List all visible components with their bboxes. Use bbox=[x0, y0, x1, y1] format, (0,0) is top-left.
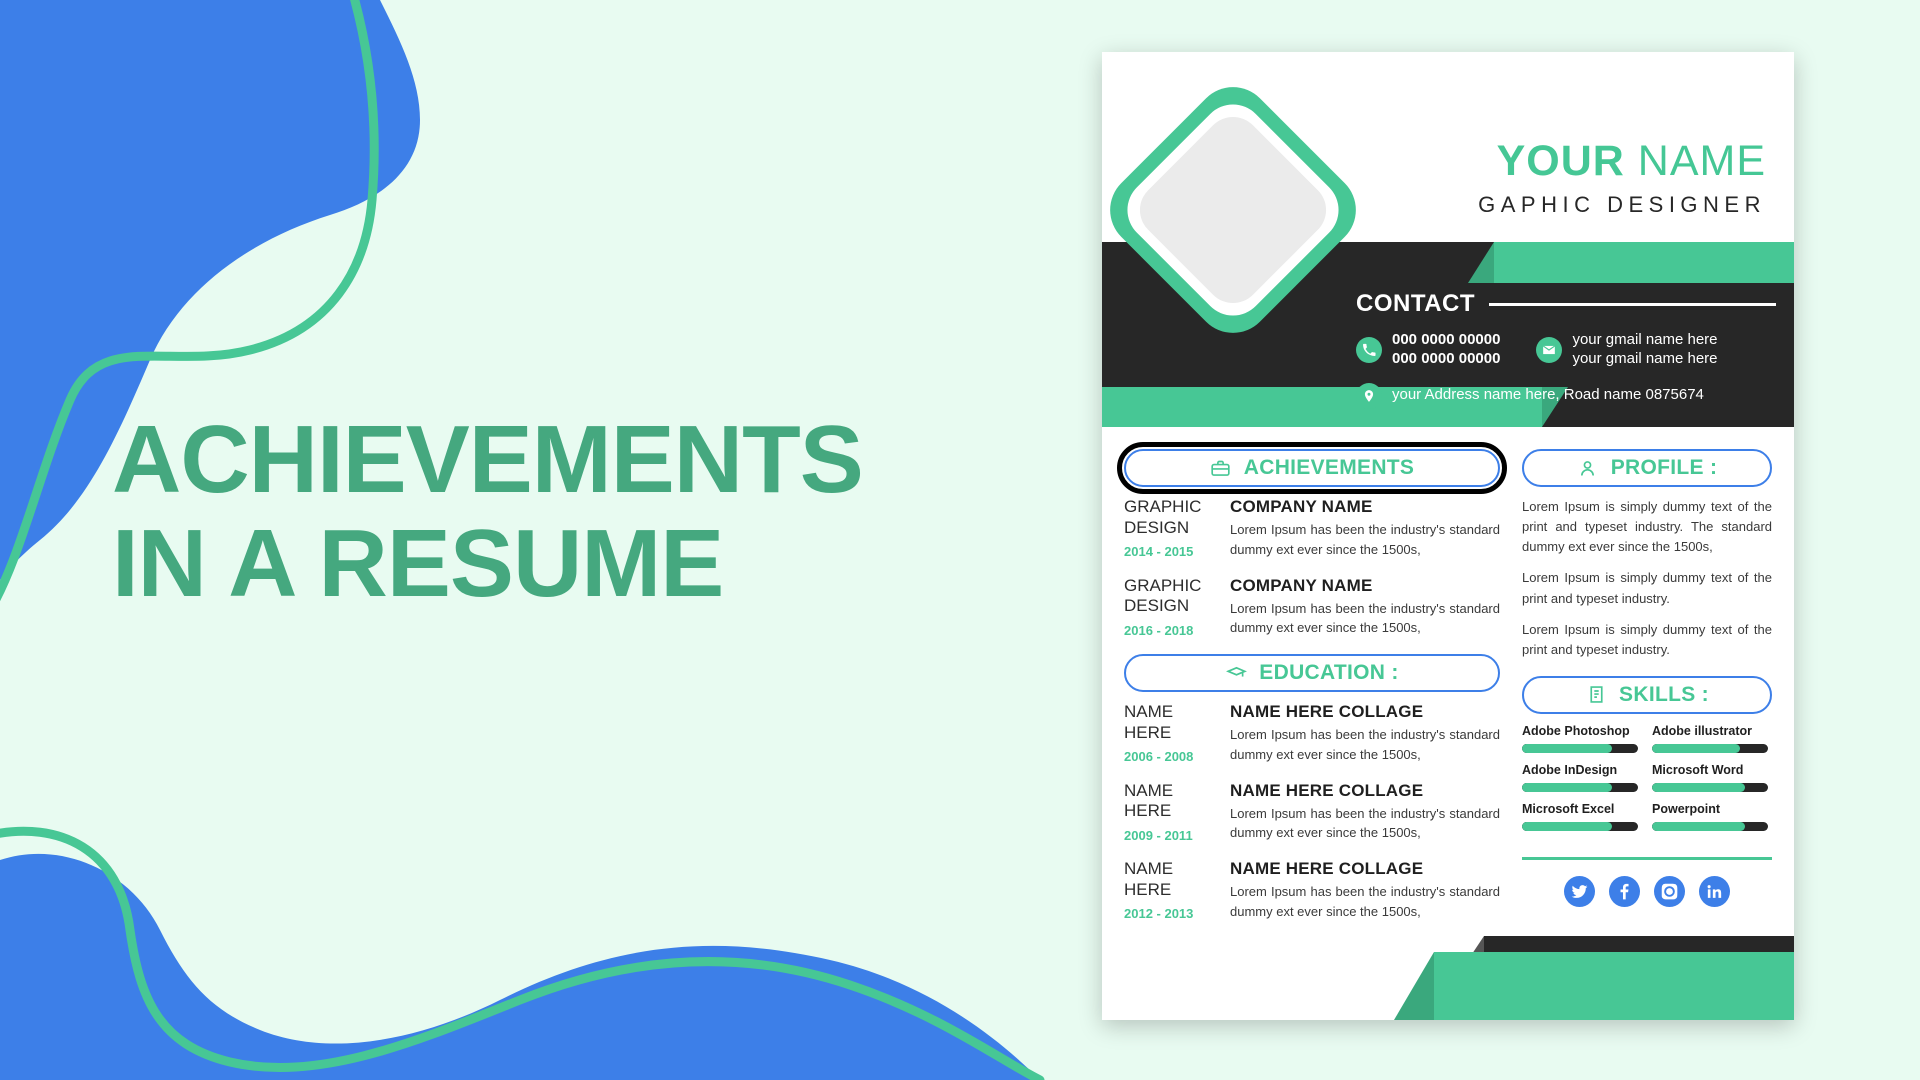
skill-item: Adobe InDesign bbox=[1522, 763, 1638, 792]
education-entries: NAME HERE 2006 - 2008 NAME HERE COLLAGE … bbox=[1124, 702, 1500, 922]
skills-label: SKILLS : bbox=[1619, 683, 1709, 707]
skill-track bbox=[1652, 783, 1768, 792]
skill-item: Powerpoint bbox=[1652, 802, 1768, 831]
skills-header[interactable]: SKILLS : bbox=[1522, 676, 1772, 714]
skill-track bbox=[1522, 744, 1638, 753]
skill-fill bbox=[1652, 822, 1745, 831]
phone-icon bbox=[1356, 337, 1382, 363]
skill-fill bbox=[1522, 783, 1612, 792]
name-last: NAME bbox=[1638, 137, 1766, 185]
achievement-title: COMPANY NAME bbox=[1230, 576, 1500, 596]
twitter-icon[interactable] bbox=[1564, 876, 1595, 907]
blue-blob-bottom bbox=[0, 854, 1040, 1080]
skill-track bbox=[1652, 822, 1768, 831]
skill-name: Adobe illustrator bbox=[1652, 724, 1768, 738]
skill-name: Powerpoint bbox=[1652, 802, 1768, 816]
profile-label: PROFILE : bbox=[1611, 456, 1718, 480]
achievement-keyword-1: GRAPHIC bbox=[1124, 576, 1201, 595]
envelope-icon bbox=[1536, 337, 1562, 363]
education-desc: Lorem Ipsum has been the industry's stan… bbox=[1230, 882, 1500, 922]
name-block: YOUR NAME GAPHIC DESIGNER bbox=[1478, 140, 1766, 218]
achievement-desc: Lorem Ipsum has been the industry's stan… bbox=[1230, 599, 1500, 639]
skill-track bbox=[1522, 783, 1638, 792]
achievement-title: COMPANY NAME bbox=[1230, 497, 1500, 517]
email-line-1: your gmail name here bbox=[1572, 331, 1717, 348]
education-desc: Lorem Ipsum has been the industry's stan… bbox=[1230, 804, 1500, 844]
instagram-icon[interactable] bbox=[1654, 876, 1685, 907]
profile-paragraph: Lorem Ipsum is simply dummy text of the … bbox=[1522, 497, 1772, 557]
sheet-bottom-decoration bbox=[1102, 920, 1794, 1020]
education-title: NAME HERE COLLAGE bbox=[1230, 859, 1500, 879]
name-first: YOUR bbox=[1497, 137, 1625, 185]
achievement-keyword-2: DESIGN bbox=[1124, 596, 1189, 615]
selection-ring bbox=[1117, 442, 1507, 494]
education-entry: NAME HERE 2009 - 2011 NAME HERE COLLAGE … bbox=[1124, 781, 1500, 844]
phone-numbers: 000 0000 00000 000 0000 00000 bbox=[1392, 331, 1500, 369]
resume-right-column: PROFILE : Lorem Ipsum is simply dummy te… bbox=[1522, 449, 1772, 938]
achievement-keyword-1: GRAPHIC bbox=[1124, 497, 1201, 516]
linkedin-icon[interactable] bbox=[1699, 876, 1730, 907]
document-list-icon bbox=[1585, 684, 1607, 706]
contact-row-primary: 000 0000 00000 000 0000 00000 your gmail… bbox=[1356, 331, 1776, 369]
skill-item: Adobe illustrator bbox=[1652, 724, 1768, 753]
full-name: YOUR NAME bbox=[1478, 140, 1766, 183]
skill-name: Microsoft Word bbox=[1652, 763, 1768, 777]
profile-paragraph: Lorem Ipsum is simply dummy text of the … bbox=[1522, 568, 1772, 608]
achievement-entry: GRAPHIC DESIGN 2016 - 2018 COMPANY NAME … bbox=[1124, 576, 1500, 639]
map-pin-icon bbox=[1356, 383, 1382, 409]
education-label: EDUCATION : bbox=[1259, 661, 1398, 685]
education-keyword-1: NAME bbox=[1124, 859, 1173, 878]
diamond-logo bbox=[1108, 62, 1358, 352]
achievement-desc: Lorem Ipsum has been the industry's stan… bbox=[1230, 520, 1500, 560]
phone-line-1: 000 0000 00000 bbox=[1392, 331, 1500, 348]
skill-item: Microsoft Excel bbox=[1522, 802, 1638, 831]
achievement-date: 2014 - 2015 bbox=[1124, 544, 1222, 559]
achievement-entry: GRAPHIC DESIGN 2014 - 2015 COMPANY NAME … bbox=[1124, 497, 1500, 560]
green-angled-band bbox=[1434, 952, 1794, 1020]
contact-title: CONTACT bbox=[1356, 290, 1475, 318]
skill-name: Adobe InDesign bbox=[1522, 763, 1638, 777]
email-line-2: your gmail name here bbox=[1572, 350, 1717, 367]
education-entry: NAME HERE 2006 - 2008 NAME HERE COLLAGE … bbox=[1124, 702, 1500, 765]
education-entry: NAME HERE 2012 - 2013 NAME HERE COLLAGE … bbox=[1124, 859, 1500, 922]
education-title: NAME HERE COLLAGE bbox=[1230, 781, 1500, 801]
education-desc: Lorem Ipsum has been the industry's stan… bbox=[1230, 725, 1500, 765]
contact-divider bbox=[1489, 303, 1776, 306]
resume-body: ACHIEVEMENTS GRAPHIC DESIGN 2014 - 2015 … bbox=[1102, 427, 1794, 938]
diamond-inner bbox=[1128, 105, 1337, 314]
profile-paragraph: Lorem Ipsum is simply dummy text of the … bbox=[1522, 620, 1772, 660]
skill-track bbox=[1522, 822, 1638, 831]
education-date: 2006 - 2008 bbox=[1124, 749, 1222, 764]
email-addresses: your gmail name here your gmail name her… bbox=[1572, 331, 1717, 369]
skills-list: Adobe Photoshop Adobe illustrator Adobe … bbox=[1522, 724, 1772, 831]
education-keyword-2: HERE bbox=[1124, 723, 1171, 742]
skill-track bbox=[1652, 744, 1768, 753]
page-headline: ACHIEVEMENTS IN A RESUME bbox=[112, 408, 932, 615]
education-date: 2009 - 2011 bbox=[1124, 828, 1222, 843]
resume-sheet: YOUR NAME GAPHIC DESIGNER CONTACT 000 00… bbox=[1102, 52, 1794, 1020]
skill-fill bbox=[1522, 744, 1612, 753]
education-title: NAME HERE COLLAGE bbox=[1230, 702, 1500, 722]
profile-header[interactable]: PROFILE : bbox=[1522, 449, 1772, 487]
profile-paragraphs: Lorem Ipsum is simply dummy text of the … bbox=[1522, 497, 1772, 660]
headline-line-2: IN A RESUME bbox=[112, 512, 932, 616]
skill-fill bbox=[1522, 822, 1612, 831]
education-header[interactable]: EDUCATION : bbox=[1124, 654, 1500, 692]
education-keyword-1: NAME bbox=[1124, 702, 1173, 721]
skill-fill bbox=[1652, 783, 1745, 792]
resume-left-column: ACHIEVEMENTS GRAPHIC DESIGN 2014 - 2015 … bbox=[1124, 449, 1500, 938]
facebook-icon[interactable] bbox=[1609, 876, 1640, 907]
education-keyword-1: NAME bbox=[1124, 781, 1173, 800]
contact-section: CONTACT 000 0000 00000 000 0000 00000 bbox=[1356, 290, 1776, 409]
education-keyword-2: HERE bbox=[1124, 880, 1171, 899]
graduation-cap-icon bbox=[1225, 662, 1247, 684]
skill-item: Adobe Photoshop bbox=[1522, 724, 1638, 753]
skill-name: Microsoft Excel bbox=[1522, 802, 1638, 816]
social-links bbox=[1522, 876, 1772, 907]
job-title: GAPHIC DESIGNER bbox=[1478, 192, 1766, 218]
green-curve-bottom bbox=[0, 831, 1040, 1080]
social-divider bbox=[1522, 857, 1772, 860]
skill-item: Microsoft Word bbox=[1652, 763, 1768, 792]
education-keyword-2: HERE bbox=[1124, 801, 1171, 820]
headline-line-1: ACHIEVEMENTS bbox=[112, 408, 932, 512]
address-text: your Address name here, Road name 087567… bbox=[1392, 386, 1704, 405]
person-icon bbox=[1577, 457, 1599, 479]
achievements-entries: GRAPHIC DESIGN 2014 - 2015 COMPANY NAME … bbox=[1124, 497, 1500, 638]
skill-fill bbox=[1652, 744, 1740, 753]
achievement-keyword-2: DESIGN bbox=[1124, 518, 1189, 537]
phone-line-2: 000 0000 00000 bbox=[1392, 350, 1500, 367]
green-accent-strip-top bbox=[1494, 242, 1794, 283]
achievement-date: 2016 - 2018 bbox=[1124, 623, 1222, 638]
skill-name: Adobe Photoshop bbox=[1522, 724, 1638, 738]
contact-row-address: your Address name here, Road name 087567… bbox=[1356, 383, 1776, 409]
achievements-header[interactable]: ACHIEVEMENTS bbox=[1124, 449, 1500, 487]
